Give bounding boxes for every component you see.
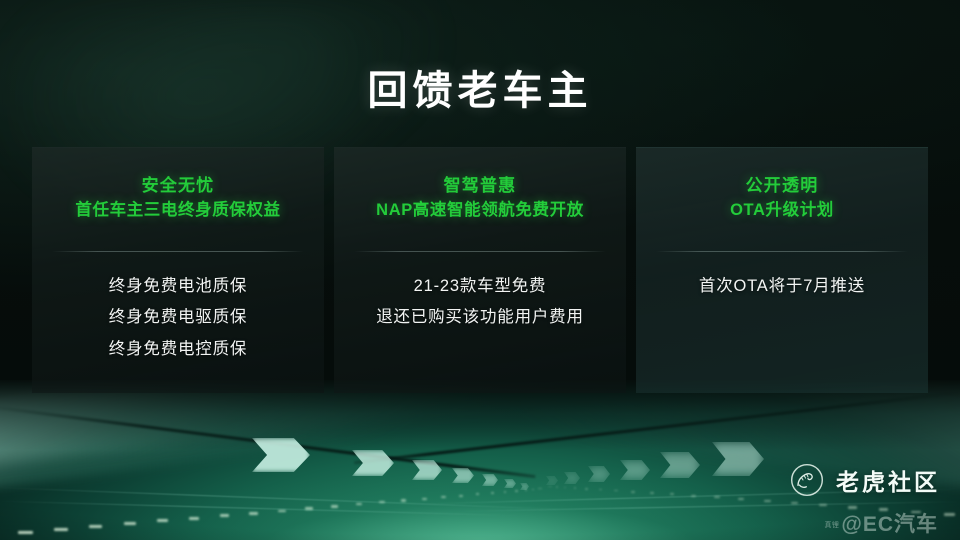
road-marker-light [574,487,577,489]
card-divider [354,251,606,252]
card-body-group: 终身免费电池质保 终身免费电驱质保 终身免费电控质保 [109,271,247,366]
card-heading-primary: 安全无忧 [75,174,280,199]
card-body-line: 21-23款车型免费 [376,271,584,303]
card-body-group: 21-23款车型免费 退还已购买该功能用户费用 [376,271,584,334]
road-marker-light [476,493,479,495]
road-marker-light [525,489,527,490]
page-title: 回馈老车主 [0,58,960,116]
road-marker-light [124,522,136,525]
card-heading-group: 智驾普惠 NAP高速智能领航免费开放 [376,174,584,223]
card-heading-secondary: 首任车主三电终身质保权益 [75,199,280,223]
road-marker-light [764,500,771,502]
benefit-card-safety: 安全无忧 首任车主三电终身质保权益 终身免费电池质保 终身免费电驱质保 终身免费… [32,147,324,393]
card-heading-primary: 公开透明 [730,174,834,199]
card-heading-secondary: NAP高速智能领航免费开放 [376,199,584,223]
card-body-line: 退还已购买该功能用户费用 [376,302,584,334]
benefit-card-nap: 智驾普惠 NAP高速智能领航免费开放 21-23款车型免费 退还已购买该功能用户… [334,147,626,393]
card-body-line: 首次OTA将于7月推送 [699,271,865,303]
road-marker-light [556,486,558,487]
road-marker-light [564,487,566,488]
card-body-line: 终身免费电池质保 [109,271,247,303]
watermark-handle: @EC汽车 [841,508,938,538]
road-marker-light [631,491,635,493]
road-marker-light [422,498,427,500]
road-marker-light [189,517,200,520]
road-marker-light [220,514,230,517]
card-divider [52,251,304,252]
card-heading-group: 安全无忧 首任车主三电终身质保权益 [75,174,280,223]
road-tunnel-image [0,380,960,540]
road-marker-light [278,510,286,513]
road-marker-light [491,492,494,494]
road-marker-light [54,528,68,531]
card-heading-group: 公开透明 OTA升级计划 [730,174,834,223]
brand-watermark: 老虎社区 [789,462,940,498]
card-body-line: 终身免费电控质保 [109,334,247,366]
road-marker-light [157,519,168,522]
benefit-card-ota: 公开透明 OTA升级计划 首次OTA将于7月推送 [636,147,928,393]
card-heading-secondary: OTA升级计划 [730,199,834,223]
benefit-cards-row: 安全无忧 首任车主三电终身质保权益 终身免费电池质保 终身免费电驱质保 终身免费… [32,147,928,393]
road-marker-light [89,525,102,528]
card-body-line: 终身免费电驱质保 [109,302,247,334]
card-heading-primary: 智驾普惠 [376,174,584,199]
road-marker-light [585,488,588,490]
watermark-prefix: 真锂 [825,520,840,530]
road-marker-light [331,505,338,507]
slide-canvas: 回馈老车主 安全无忧 首任车主三电终身质保权益 终身免费电池质保 终身免费电驱质… [0,0,960,540]
road-marker-light [515,490,518,492]
card-divider [656,251,908,252]
road-marker-light [650,492,654,494]
road-marker-light [944,513,955,516]
road-marker-light [249,512,258,515]
secondary-watermark: 真锂 @EC汽车 [825,508,938,538]
tiger-circle-logo-icon [789,462,825,498]
road-marker-light [401,499,406,501]
road-marker-light [18,531,33,534]
road-marker-light [459,495,463,497]
card-body-group: 首次OTA将于7月推送 [699,271,865,303]
brand-name: 老虎社区 [836,463,940,497]
road-marker-light [441,496,445,498]
